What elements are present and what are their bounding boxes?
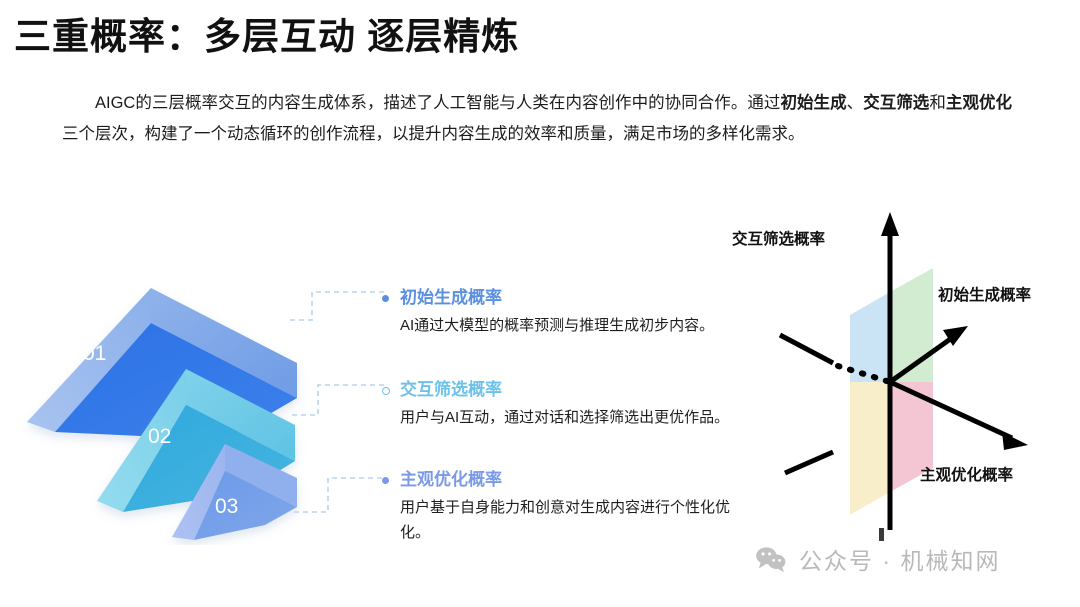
quadrant-bottom-left	[850, 382, 890, 515]
bullet-dot-icon	[382, 477, 389, 484]
list-item-body: 用户与AI互动，通过对话和选择筛选出更优作品。	[382, 405, 732, 430]
intro-bold-3: 主观优化	[946, 94, 1012, 112]
pyramid-layer-02-number: 02	[148, 425, 171, 448]
connector-line-3	[294, 478, 386, 512]
axis-label-z: 主观优化概率	[920, 463, 1013, 485]
list-item-heading: 主观优化概率	[382, 468, 732, 492]
axis-label-y: 交互筛选概率	[732, 227, 825, 249]
intro-text-1: AIGC的三层概率交互的内容生成体系，描述了人工智能与人类在内容创作中的协同合作…	[95, 94, 780, 112]
intro-paragraph: AIGC的三层概率交互的内容生成体系，描述了人工智能与人类在内容创作中的协同合作…	[62, 88, 1012, 150]
intro-text-4: 三个层次，构建了一个动态循环的创作流程，以提升内容生成的效率和质量，满足市场的多…	[62, 125, 805, 143]
pyramid-layer-01-number: 01	[83, 342, 106, 365]
intro-text-3: 和	[929, 94, 946, 112]
list-item-heading-text: 交互筛选概率	[400, 380, 502, 399]
pyramid-layer-03-number: 03	[215, 495, 238, 518]
watermark-text: 公众号 · 机械知网	[799, 542, 1000, 576]
list-item[interactable]: 初始生成概率 AI通过大模型的概率预测与推理生成初步内容。	[382, 286, 732, 338]
list-item[interactable]: 交互筛选概率 用户与AI互动，通过对话和选择筛选出更优作品。	[382, 378, 732, 430]
watermark: 公众号 · 机械知网	[755, 542, 1000, 576]
list-item-body: 用户基于自身能力和创意对生成内容进行个性化优化。	[382, 495, 732, 545]
watermark-tick	[879, 528, 884, 541]
connector-line-1	[290, 292, 386, 320]
page-title: 三重概率：多层互动 逐层精炼	[14, 6, 519, 60]
list-item-heading: 交互筛选概率	[382, 378, 732, 402]
axis-label-x: 初始生成概率	[938, 283, 1031, 305]
intro-bold-2: 交互筛选	[863, 94, 929, 112]
list-item-heading-text: 初始生成概率	[400, 288, 502, 307]
axis-diagram: 交互筛选概率 初始生成概率 主观优化概率	[740, 200, 1080, 540]
bullet-dot-icon	[382, 387, 390, 395]
list-item[interactable]: 主观优化概率 用户基于自身能力和创意对生成内容进行个性化优化。	[382, 468, 732, 545]
list-item-heading: 初始生成概率	[382, 286, 732, 310]
intro-text-2: 、	[847, 94, 864, 112]
list-item-body: AI通过大模型的概率预测与推理生成初步内容。	[382, 313, 732, 338]
list-item-heading-text: 主观优化概率	[400, 470, 502, 489]
connector-line-2	[292, 385, 386, 415]
bullet-dot-icon	[382, 295, 389, 302]
quadrant-top-left	[850, 292, 890, 382]
axis-z-negative	[785, 452, 833, 473]
intro-bold-1: 初始生成	[780, 94, 846, 112]
wechat-icon	[755, 546, 787, 572]
